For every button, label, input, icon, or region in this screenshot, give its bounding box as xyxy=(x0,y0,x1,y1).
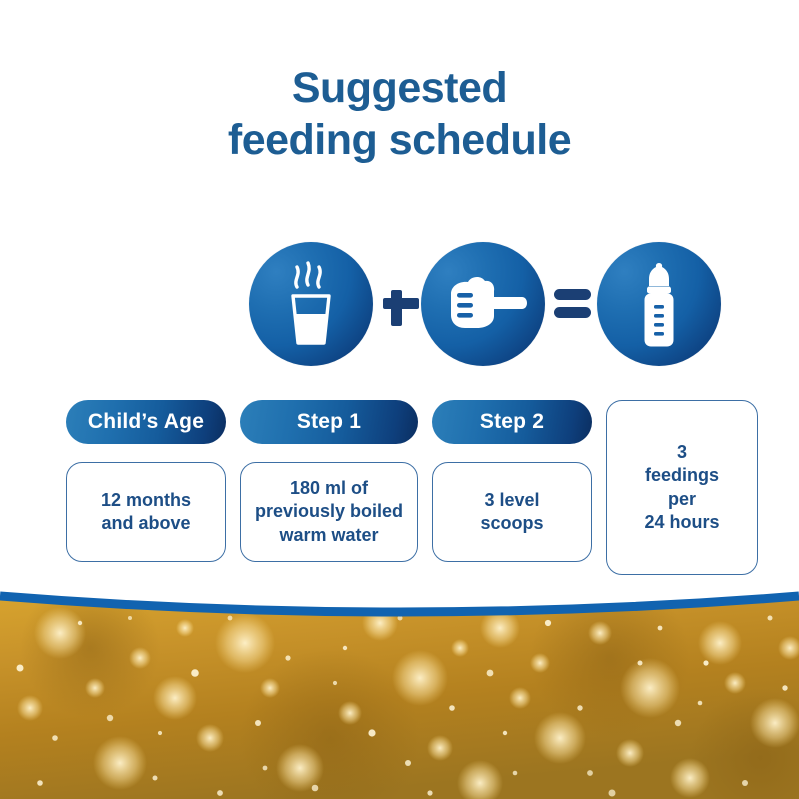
icon-equation-row xyxy=(0,240,799,370)
table-cell-step-1: 180 ml ofpreviously boiledwarm water xyxy=(240,462,418,562)
table-column-step-1: Step 1 180 ml ofpreviously boiledwarm wa… xyxy=(240,400,418,562)
equals-sign xyxy=(551,284,595,324)
schedule-table: Child’s Age 12 monthsand above Step 1 18… xyxy=(66,400,734,580)
table-column-childs-age: Child’s Age 12 monthsand above xyxy=(66,400,226,562)
title-line-2: feeding schedule xyxy=(0,114,799,166)
warm-water-glass-glyph xyxy=(249,242,373,366)
table-cell-childs-age: 12 monthsand above xyxy=(66,462,226,562)
equals-bar-top xyxy=(554,289,591,300)
golden-bokeh-band xyxy=(0,588,799,799)
table-cell-result-feedings: 3feedingsper24 hours xyxy=(606,400,758,575)
table-column-step-2: Step 2 3 levelscoops xyxy=(432,400,592,562)
baby-bottle-icon xyxy=(597,242,721,366)
plus-bar-vertical xyxy=(391,290,402,326)
baby-bottle-glyph xyxy=(597,242,721,366)
column-header-step-1: Step 1 xyxy=(240,400,418,444)
warm-water-glass-icon xyxy=(249,242,373,366)
plus-sign xyxy=(379,282,423,326)
golden-bokeh-graphic xyxy=(0,588,799,799)
page-title: Suggested feeding schedule xyxy=(0,62,799,167)
table-cell-step-2: 3 levelscoops xyxy=(432,462,592,562)
equals-bar-bottom xyxy=(554,307,591,318)
column-header-childs-age: Child’s Age xyxy=(66,400,226,444)
column-header-step-2: Step 2 xyxy=(432,400,592,444)
feeding-schedule-infographic: Suggested feeding schedule xyxy=(0,0,799,799)
title-line-1: Suggested xyxy=(0,62,799,114)
measuring-scoop-glyph xyxy=(421,242,545,366)
measuring-scoop-icon xyxy=(421,242,545,366)
